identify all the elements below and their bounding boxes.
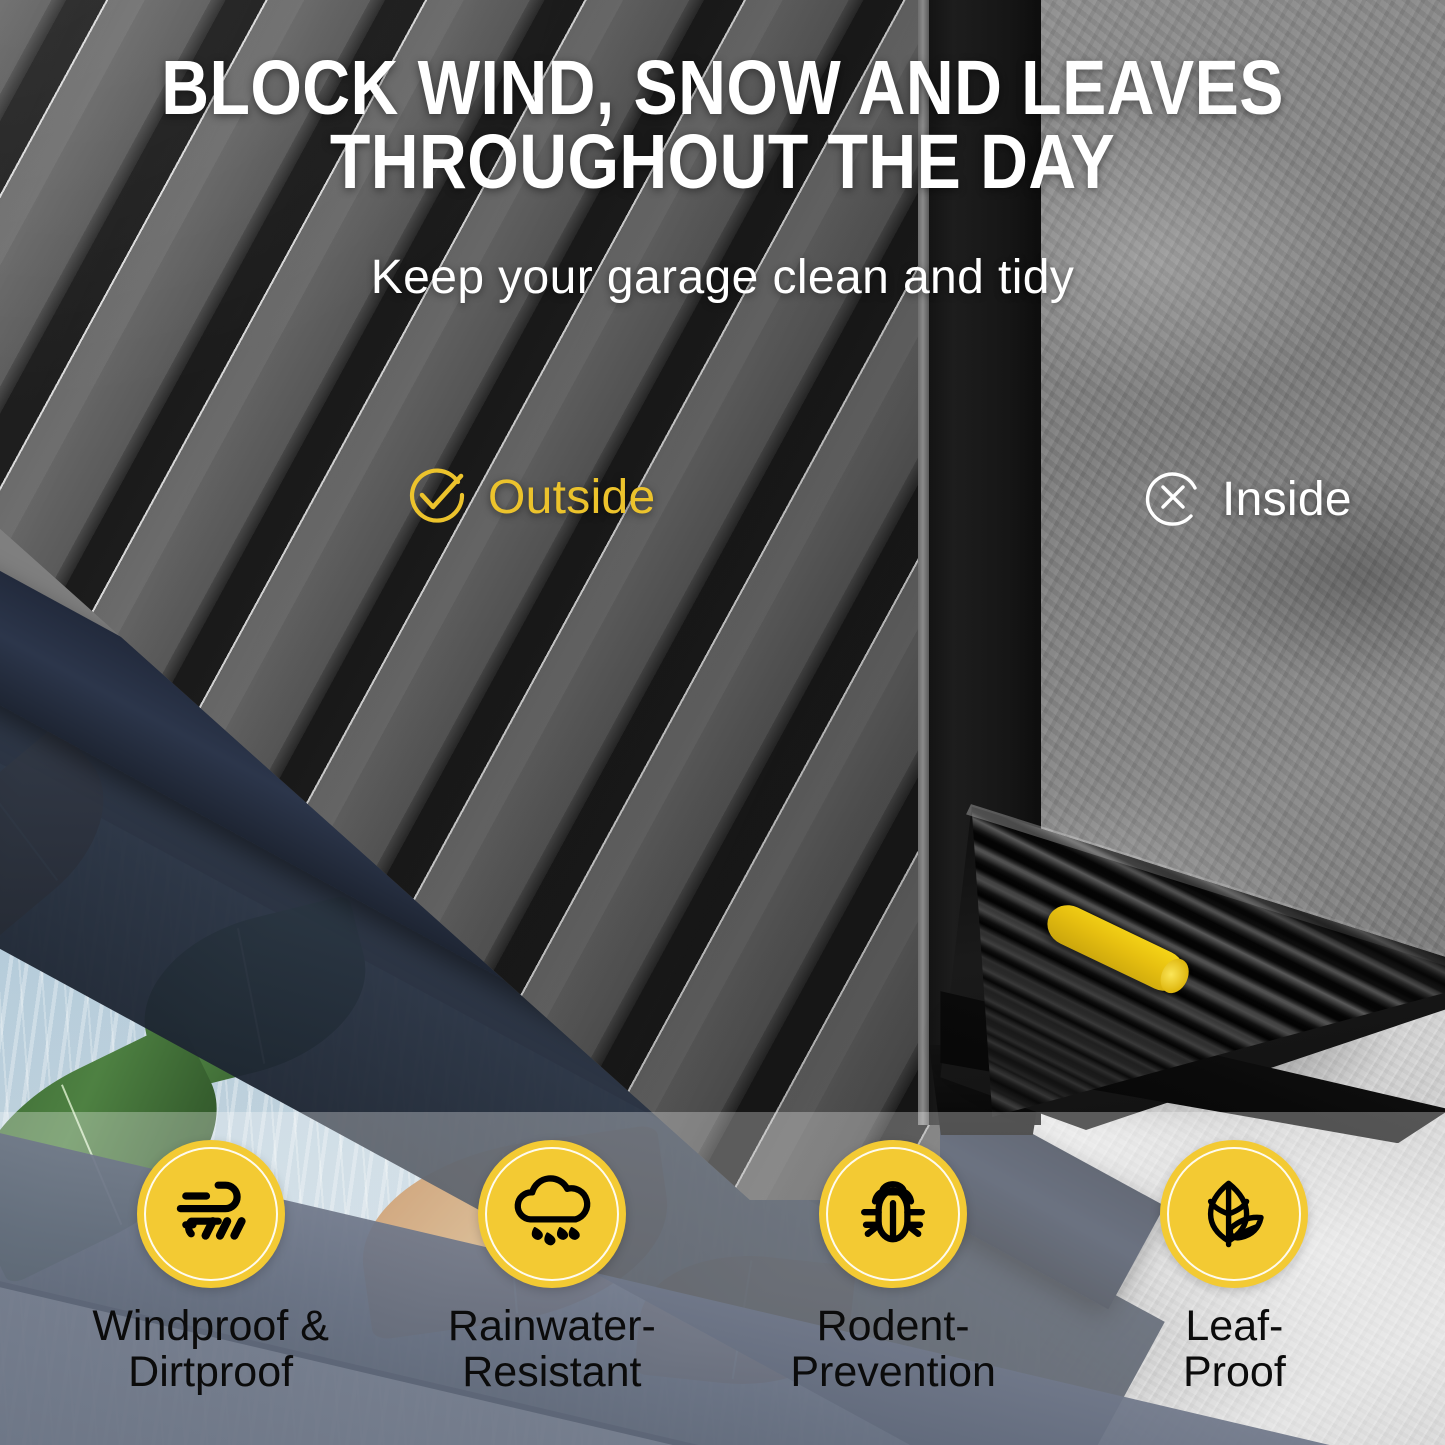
marker-outside-label: Outside xyxy=(488,470,656,525)
feature-label: Rainwater- Resistant xyxy=(448,1304,656,1395)
feature-label: Leaf- Proof xyxy=(1183,1304,1286,1395)
marker-inside: Inside xyxy=(1142,466,1352,533)
x-circle-icon xyxy=(1142,466,1204,533)
bug-icon xyxy=(848,1169,938,1259)
page-title: BLOCK WIND, SNOW AND LEAVES THROUGHOUT T… xyxy=(101,52,1344,200)
feature-rodent: Rodent- Prevention xyxy=(743,1140,1043,1395)
badge-circle xyxy=(1160,1140,1308,1288)
feature-label: Rodent- Prevention xyxy=(790,1304,996,1395)
page-subtitle: Keep your garage clean and tidy xyxy=(0,250,1445,305)
check-circle-icon xyxy=(404,462,470,533)
feature-windproof: Windproof & Dirtproof xyxy=(61,1140,361,1395)
badge-circle xyxy=(137,1140,285,1288)
feature-label: Windproof & Dirtproof xyxy=(92,1304,329,1395)
threshold-seal-product xyxy=(930,800,1445,1130)
leaf-icon xyxy=(1189,1169,1279,1259)
headline-line-1: BLOCK WIND, SNOW AND LEAVES xyxy=(101,52,1344,126)
product-marketing-image: BLOCK WIND, SNOW AND LEAVES THROUGHOUT T… xyxy=(0,0,1445,1445)
rain-cloud-icon xyxy=(507,1169,597,1259)
marker-inside-label: Inside xyxy=(1222,472,1352,527)
feature-leaf: Leaf- Proof xyxy=(1084,1140,1384,1395)
wind-icon xyxy=(166,1169,256,1259)
badge-circle xyxy=(819,1140,967,1288)
marker-outside: Outside xyxy=(404,462,656,533)
feature-badge-row: Windproof & Dirtproof Rainwater- Resista… xyxy=(0,1140,1445,1440)
badge-circle xyxy=(478,1140,626,1288)
feature-rainwater: Rainwater- Resistant xyxy=(402,1140,702,1395)
headline-line-2: THROUGHOUT THE DAY xyxy=(101,126,1344,200)
